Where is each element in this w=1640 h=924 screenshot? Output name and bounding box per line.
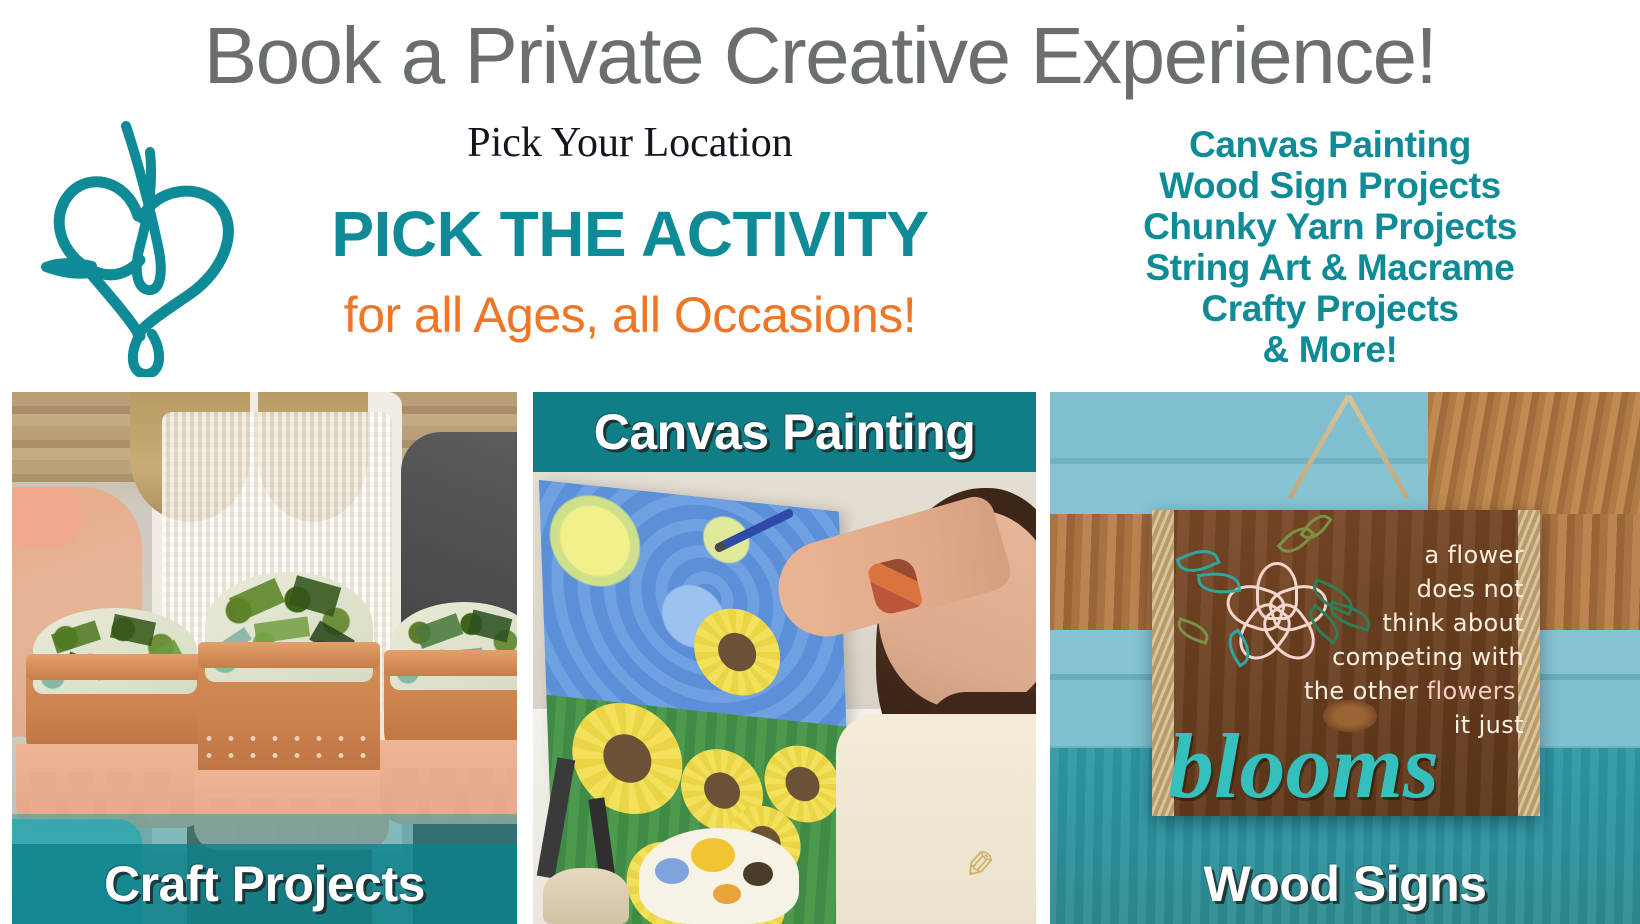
quote-line-5: the other flowers, — [1294, 674, 1524, 708]
activity-item-and-more: & More! — [1030, 329, 1630, 370]
quote-line-4: competing with — [1294, 640, 1524, 674]
panel-label-craft-projects: Craft Projects — [12, 844, 517, 924]
activity-item-chunky-yarn: Chunky Yarn Projects — [1030, 206, 1630, 247]
quote-line-5b: flowers, — [1427, 677, 1524, 705]
panel-wood-signs[interactable]: a flower does not think about competing … — [1050, 392, 1640, 924]
panel-craft-projects[interactable]: Craft Projects — [12, 392, 517, 924]
banner-header: Book a Private Creative Experience! Pick… — [0, 0, 1640, 392]
photo-panel-row: Craft Projects — [0, 392, 1640, 924]
activity-item-wood-sign: Wood Sign Projects — [1030, 165, 1630, 206]
ages-occasions-subtitle: for all Ages, all Occasions! — [230, 290, 1030, 340]
pick-the-activity-heading: PICK THE ACTIVITY — [230, 202, 1030, 266]
activity-item-canvas-painting: Canvas Painting — [1030, 124, 1630, 165]
wood-sign-quote: a flower does not think about competing … — [1294, 538, 1524, 742]
activity-list: Canvas Painting Wood Sign Projects Chunk… — [1030, 124, 1630, 370]
wood-sign-script-word: blooms — [1168, 725, 1439, 808]
panel-canvas-painting[interactable]: ✎ Canvas Painting — [533, 392, 1036, 924]
activity-item-crafty-projects: Crafty Projects — [1030, 288, 1630, 329]
center-text-column: Pick Your Location PICK THE ACTIVITY for… — [230, 122, 1030, 352]
panel-label-wood-signs: Wood Signs — [1050, 844, 1640, 924]
quote-line-1: a flower — [1294, 538, 1524, 572]
quote-line-2: does not — [1294, 572, 1524, 606]
quote-line-3: think about — [1294, 606, 1524, 640]
wood-sign-board: a flower does not think about competing … — [1152, 510, 1540, 816]
page-title: Book a Private Creative Experience! — [0, 16, 1640, 96]
pick-your-location-text: Pick Your Location — [230, 122, 1030, 164]
quote-line-5a: the other — [1304, 677, 1427, 705]
panel-label-canvas-painting: Canvas Painting — [533, 392, 1036, 472]
activity-item-string-art: String Art & Macrame — [1030, 247, 1630, 288]
heart-paintbrush-logo — [30, 112, 240, 377]
